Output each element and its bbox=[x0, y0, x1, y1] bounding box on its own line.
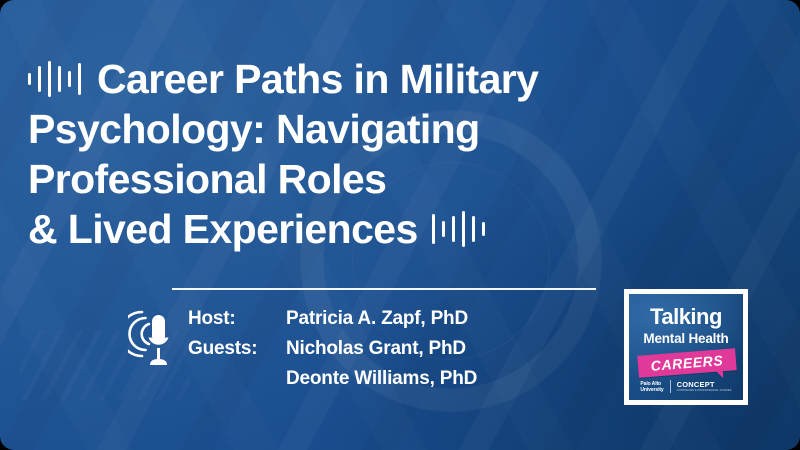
title-block: Career Paths in Military Psychology: Nav… bbox=[28, 54, 744, 254]
credits-row-guest-2: Deonte Williams, PhD bbox=[188, 364, 477, 394]
careers-banner: CAREERS bbox=[637, 348, 736, 378]
podcast-logo-card: Talking Mental Health CAREERS Palo Alto … bbox=[624, 289, 748, 405]
audio-waveform-icon bbox=[432, 209, 485, 249]
title-text-line-3: Professional Roles bbox=[28, 159, 386, 200]
audio-waveform-icon bbox=[28, 59, 81, 99]
guest-name-1: Nicholas Grant, PhD bbox=[286, 334, 466, 364]
title-text-line-1: Career Paths in Military bbox=[97, 59, 538, 100]
host-label: Host: bbox=[188, 304, 286, 334]
podcast-logo-inner: Talking Mental Health CAREERS Palo Alto … bbox=[629, 294, 743, 400]
careers-banner-label: CAREERS bbox=[637, 348, 736, 378]
host-name: Patricia A. Zapf, PhD bbox=[286, 304, 468, 334]
title-line-4: & Lived Experiences bbox=[28, 204, 744, 254]
logo-title-mental-health: Mental Health bbox=[629, 332, 743, 346]
title-line-3: Professional Roles bbox=[28, 154, 744, 204]
guest-name-2: Deonte Williams, PhD bbox=[286, 364, 477, 394]
credits-row-host: Host: Patricia A. Zapf, PhD bbox=[188, 304, 477, 334]
pau-line-2: University bbox=[640, 387, 663, 393]
microphone-icon bbox=[128, 304, 174, 376]
logo-title-talking: Talking bbox=[629, 306, 743, 328]
palo-alto-university-logo: Palo Alto University bbox=[640, 381, 663, 393]
logo-footer-divider bbox=[670, 380, 671, 393]
concept-name: CONCEPT bbox=[677, 381, 732, 389]
credits-rows: Host: Patricia A. Zapf, PhD Guests: Nich… bbox=[188, 300, 477, 394]
credits-row-guests: Guests: Nicholas Grant, PhD bbox=[188, 334, 477, 364]
guests-label: Guests: bbox=[188, 334, 286, 364]
title-text-line-4: & Lived Experiences bbox=[28, 209, 418, 250]
logo-footer: Palo Alto University CONCEPT CONTINUING … bbox=[629, 380, 743, 393]
title-line-1: Career Paths in Military bbox=[28, 54, 744, 104]
concept-logo: CONCEPT CONTINUING & PROFESSIONAL STUDIE… bbox=[677, 381, 732, 393]
concept-tagline: CONTINUING & PROFESSIONAL STUDIES bbox=[677, 389, 732, 393]
horizontal-divider bbox=[172, 288, 596, 290]
credits-block: Host: Patricia A. Zapf, PhD Guests: Nich… bbox=[128, 300, 477, 394]
title-line-2: Psychology: Navigating bbox=[28, 104, 744, 154]
pau-line-1: Palo Alto bbox=[640, 381, 663, 387]
title-text-line-2: Psychology: Navigating bbox=[28, 109, 480, 150]
podcast-title-slide: Career Paths in Military Psychology: Nav… bbox=[0, 0, 800, 450]
